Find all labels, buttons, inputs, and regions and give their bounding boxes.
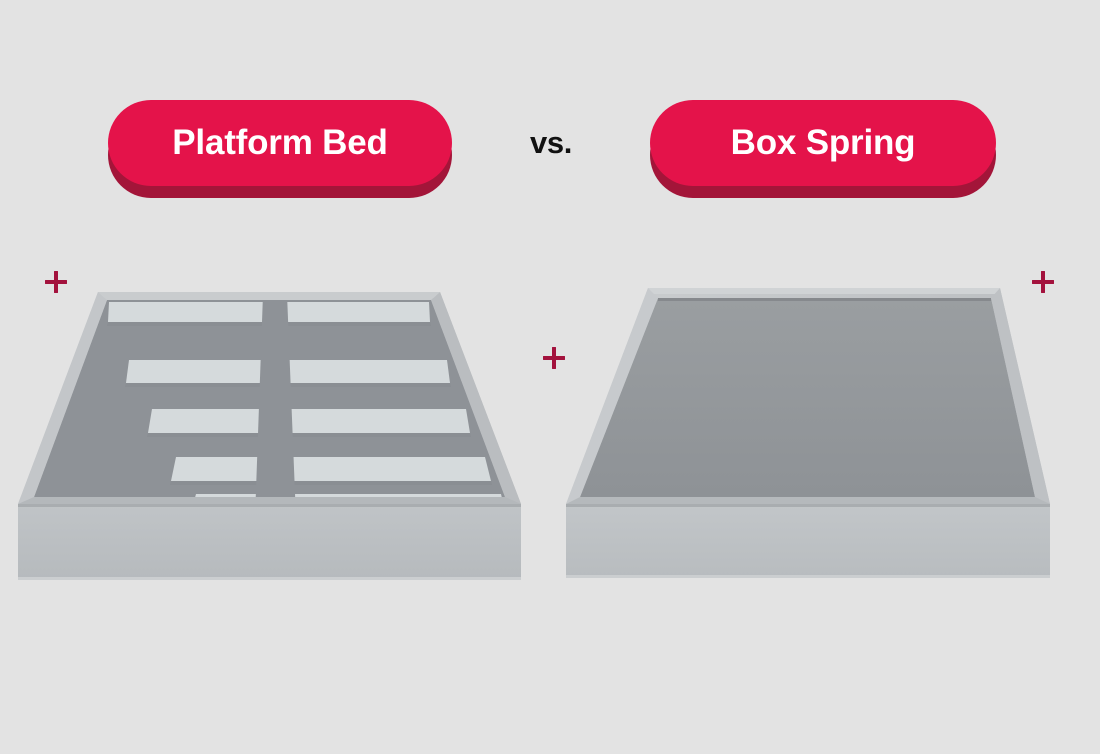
versus-label: vs. <box>530 125 572 161</box>
box-spring-illustration <box>550 268 1100 598</box>
platform-bed-badge[interactable]: Platform Bed <box>108 100 452 186</box>
illustration-canvas: Platform Bed vs. Box Spring <box>0 0 1100 754</box>
platform-bed-slat <box>170 457 492 485</box>
box-spring-top-surface <box>580 298 1035 497</box>
box-spring-front-face <box>566 504 1050 578</box>
box-spring-badge-label: Box Spring <box>731 123 916 163</box>
box-spring-badge[interactable]: Box Spring <box>650 100 996 186</box>
versus-separator: vs. <box>452 100 650 186</box>
platform-bed-front-face <box>18 504 521 580</box>
platform-bed-illustration <box>0 268 560 598</box>
platform-bed-slat <box>147 409 471 437</box>
platform-bed-badge-label: Platform Bed <box>172 123 387 163</box>
